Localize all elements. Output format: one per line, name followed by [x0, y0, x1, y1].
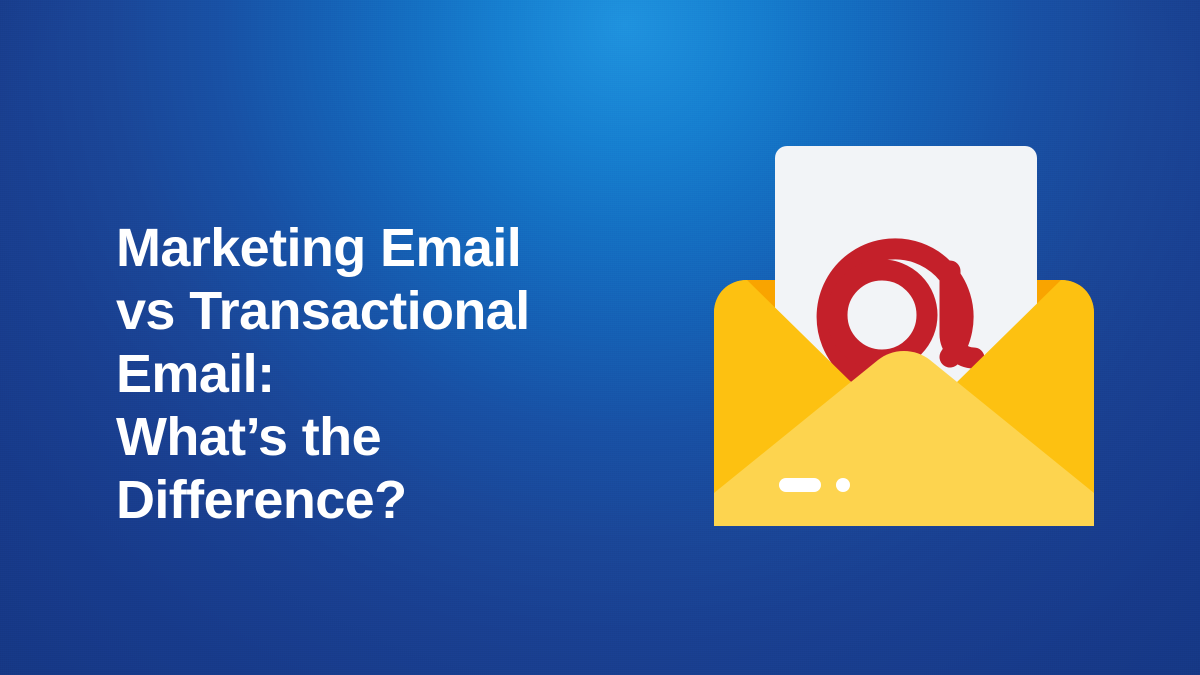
envelope-illustration — [706, 138, 1102, 536]
page-title: Marketing Email vs Transactional Email: … — [116, 217, 716, 532]
envelope-detail-marks — [779, 478, 850, 492]
poster-canvas: Marketing Email vs Transactional Email: … — [0, 0, 1200, 675]
